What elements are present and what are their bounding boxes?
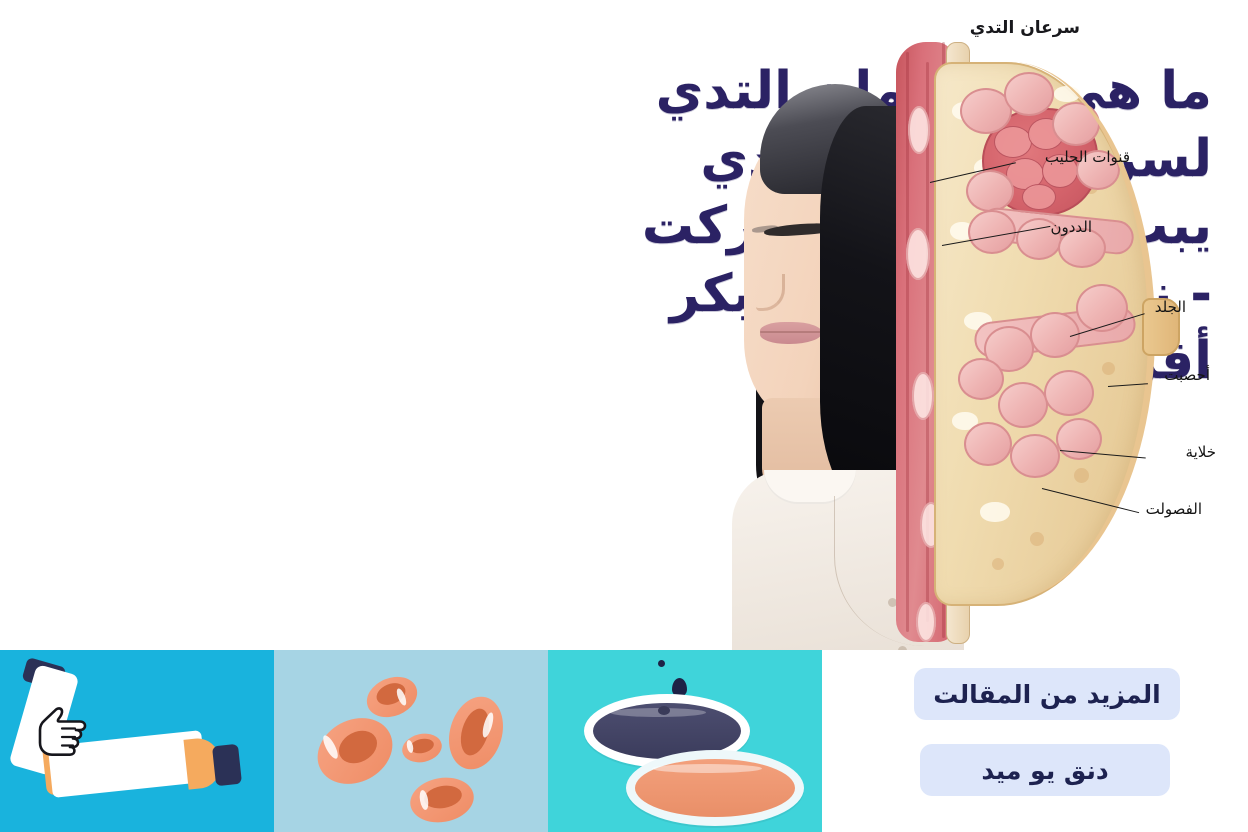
label-lobules: الفصولت <box>1146 500 1202 518</box>
infographic-root: ما هي 5 علامان التدي لسربة تحذرين التدي … <box>0 0 1248 832</box>
label-fat: الددون <box>1050 218 1092 236</box>
label-cell: خلاية <box>1186 443 1216 461</box>
label-milk-ducts: قنوات الحليب <box>1045 148 1130 166</box>
breast-cross-section-icon <box>934 62 1164 602</box>
hero-section: ما هي 5 علامان التدي لسربة تحذرين التدي … <box>0 0 1248 650</box>
pointing-hand-icon <box>28 700 92 766</box>
bottom-image-strip <box>0 650 822 832</box>
diagram-title: سرعان التدي <box>970 18 1080 38</box>
more-articles-button[interactable]: المزيد من المقالت <box>914 668 1180 720</box>
label-skin: الجلد <box>1155 298 1186 316</box>
thank-you-button[interactable]: دنق يو ميد <box>920 744 1170 796</box>
breast-anatomy-illustration: سرعان التدي <box>730 0 1248 650</box>
pills-panel <box>548 650 822 832</box>
blood-cells-panel <box>274 650 548 832</box>
label-nipple: أحصبت <box>1164 366 1210 384</box>
